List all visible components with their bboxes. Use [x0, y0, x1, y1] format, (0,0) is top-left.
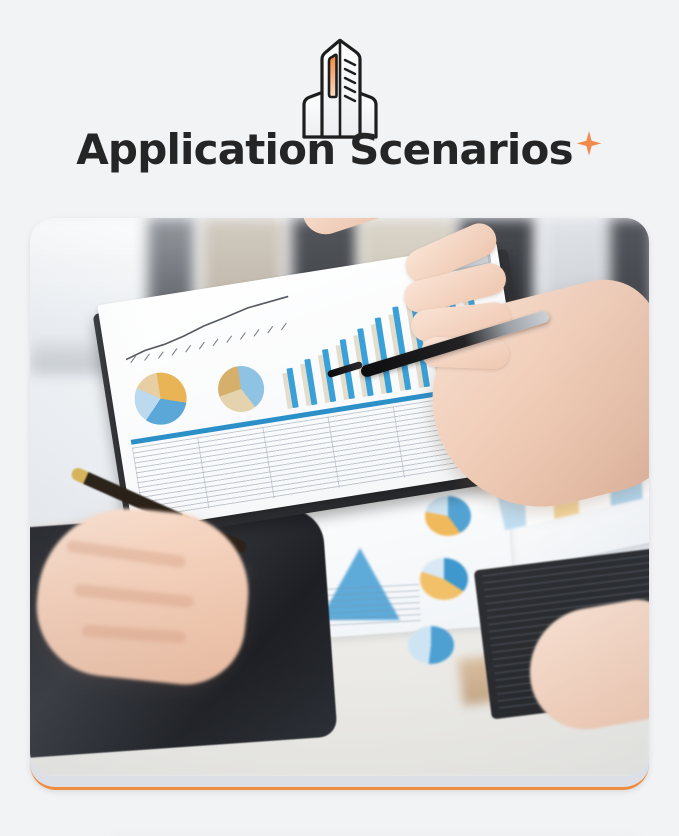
photo-card: Document Contract	[30, 218, 649, 790]
scenario-photo	[30, 218, 649, 776]
document-pie-3	[408, 626, 454, 664]
page-title: Application Scenarios	[76, 128, 573, 172]
header: Application Scenarios	[0, 0, 679, 218]
report-pie-chart-2	[215, 363, 268, 416]
title-row: Application Scenarios	[0, 128, 679, 172]
sparkle-icon	[575, 130, 603, 158]
application-scenarios-page: Application Scenarios	[0, 0, 679, 836]
document-pie-2	[420, 558, 468, 600]
document-pie-1	[425, 496, 471, 536]
report-pie-chart-1	[131, 369, 190, 428]
photo-scene	[30, 218, 649, 776]
